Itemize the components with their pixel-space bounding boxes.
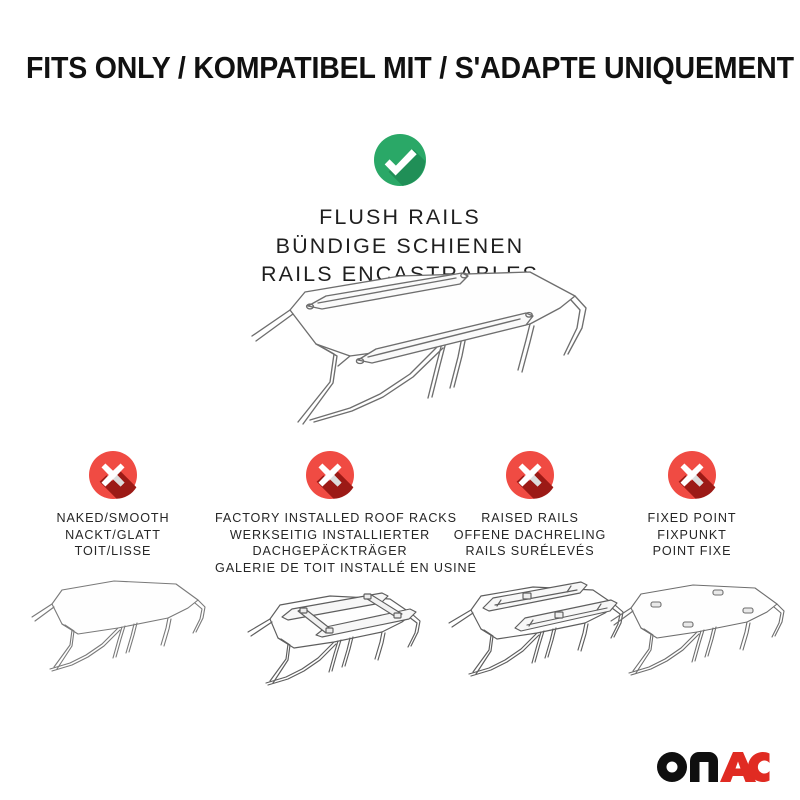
option-label-de-2: DACHGEPÄCKTRÄGER [215,543,445,560]
car-roof-naked-smooth-illustration [18,552,208,692]
option-naked-smooth: NAKED/SMOOTH NACKT/GLATT TOIT/LISSE [13,450,213,560]
x-circle-icon-wrap [432,450,628,502]
option-label-en: RAISED RAILS [432,510,628,527]
x-circle-icon [88,450,138,500]
compatible-label-de: BÜNDIGE SCHIENEN [0,232,800,261]
x-circle-icon [667,450,717,500]
x-circle-icon [305,450,355,500]
option-label-en: FACTORY INSTALLED ROOF RACKS [215,510,445,527]
option-label-en: FIXED POINT [604,510,780,527]
check-circle-icon [0,133,800,192]
option-fixed-point: FIXED POINT FIXPUNKT POINT FIXE [604,450,780,560]
car-roof-factory-roof-racks-illustration [230,569,430,699]
car-roof-fixed-point-illustration [597,552,787,692]
x-circle-icon-wrap [604,450,780,502]
header: FITS ONLY / KOMPATIBEL MIT / S'ADAPTE UN… [0,52,800,86]
incompatible-options-row: NAKED/SMOOTH NACKT/GLATT TOIT/LISSE [0,450,800,700]
omac-logo [656,750,770,784]
x-circle-icon [505,450,555,500]
car-roof-flush-rails-illustration [230,262,590,437]
x-circle-icon-wrap [215,450,445,502]
page-title: FITS ONLY / KOMPATIBEL MIT / S'ADAPTE UN… [26,52,774,86]
x-circle-icon-wrap [13,450,213,502]
option-factory-roof-racks: FACTORY INSTALLED ROOF RACKS WERKSEITIG … [215,450,445,576]
option-raised-rails: RAISED RAILS OFFENE DACHRELING RAILS SUR… [432,450,628,560]
option-label-de: NACKT/GLATT [13,527,213,544]
option-label-de-1: WERKSEITIG INSTALLIERTER [215,527,445,544]
option-label-de: OFFENE DACHRELING [432,527,628,544]
option-label-en: NAKED/SMOOTH [13,510,213,527]
compatible-label-en: FLUSH RAILS [0,203,800,232]
option-label-de: FIXPUNKT [604,527,780,544]
option-labels: FACTORY INSTALLED ROOF RACKS WERKSEITIG … [215,510,445,576]
